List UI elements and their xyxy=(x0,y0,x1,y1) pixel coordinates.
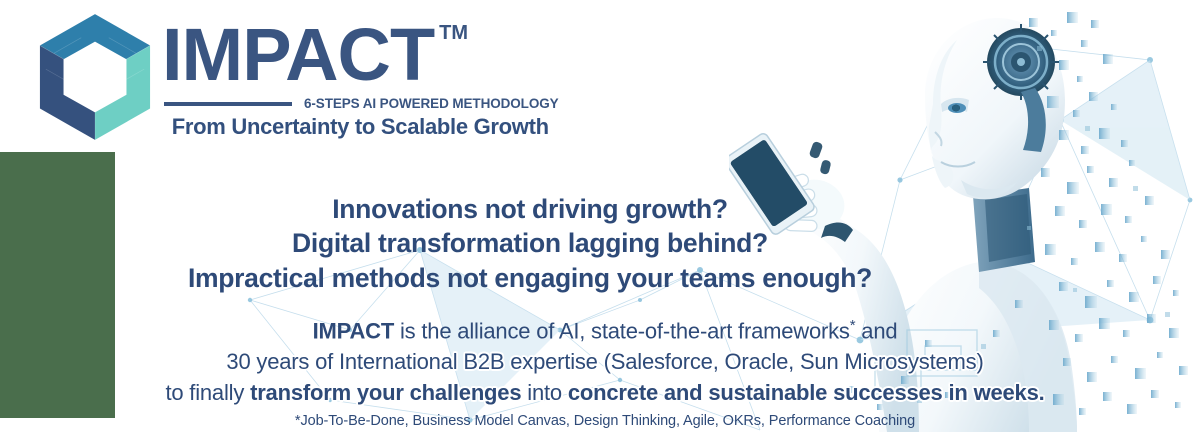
logo-text-lockup: IMPACT TM 6-STEPS AI POWERED METHODOLOGY… xyxy=(162,14,559,140)
headline-line-1: Innovations not driving growth? xyxy=(115,192,945,226)
impact-marketing-banner: Innovations not driving growth? Digital … xyxy=(0,0,1199,432)
body-copy-block: IMPACT is the alliance of AI, state-of-t… xyxy=(115,315,1095,409)
body-line-2: 30 years of International B2B expertise … xyxy=(115,347,1095,378)
body-line-1-rest: is the alliance of AI, state-of-the-art … xyxy=(394,318,850,343)
logo-panel: IMPACT TM 6-STEPS AI POWERED METHODOLOGY… xyxy=(18,2,619,152)
body-line-3: to finally transform your challenges int… xyxy=(115,378,1095,409)
headline-line-2: Digital transformation lagging behind? xyxy=(115,226,945,260)
trademark-mark: TM xyxy=(439,23,468,43)
body-line-3-bold-b: concrete and sustainable successes in we… xyxy=(568,380,1045,405)
headline-line-3: Impractical methods not engaging your te… xyxy=(115,261,945,295)
body-line-1: IMPACT is the alliance of AI, state-of-t… xyxy=(115,315,1095,347)
tagline-divider-rule xyxy=(164,102,292,106)
body-line-3-mid: into xyxy=(521,380,568,405)
tagline-primary: 6-STEPS AI POWERED METHODOLOGY xyxy=(304,96,559,111)
body-line-1-brand: IMPACT xyxy=(313,318,395,343)
body-line-3-lead: to finally xyxy=(165,380,250,405)
footnote: *Job-To-Be-Done, Business Model Canvas, … xyxy=(115,413,1095,429)
headline-block: Innovations not driving growth? Digital … xyxy=(115,192,945,295)
impact-wordmark: IMPACT xyxy=(162,18,434,92)
body-line-3-bold-a: transform your challenges xyxy=(250,380,521,405)
impact-hexagon-logo-icon xyxy=(36,12,154,142)
tagline-row: 6-STEPS AI POWERED METHODOLOGY xyxy=(164,96,559,111)
body-line-1-tail: and xyxy=(855,318,897,343)
left-green-accent-band xyxy=(0,152,115,418)
tagline-secondary: From Uncertainty to Scalable Growth xyxy=(162,114,559,140)
wordmark-row: IMPACT TM xyxy=(162,18,559,92)
content-panel: Innovations not driving growth? Digital … xyxy=(115,152,1199,432)
